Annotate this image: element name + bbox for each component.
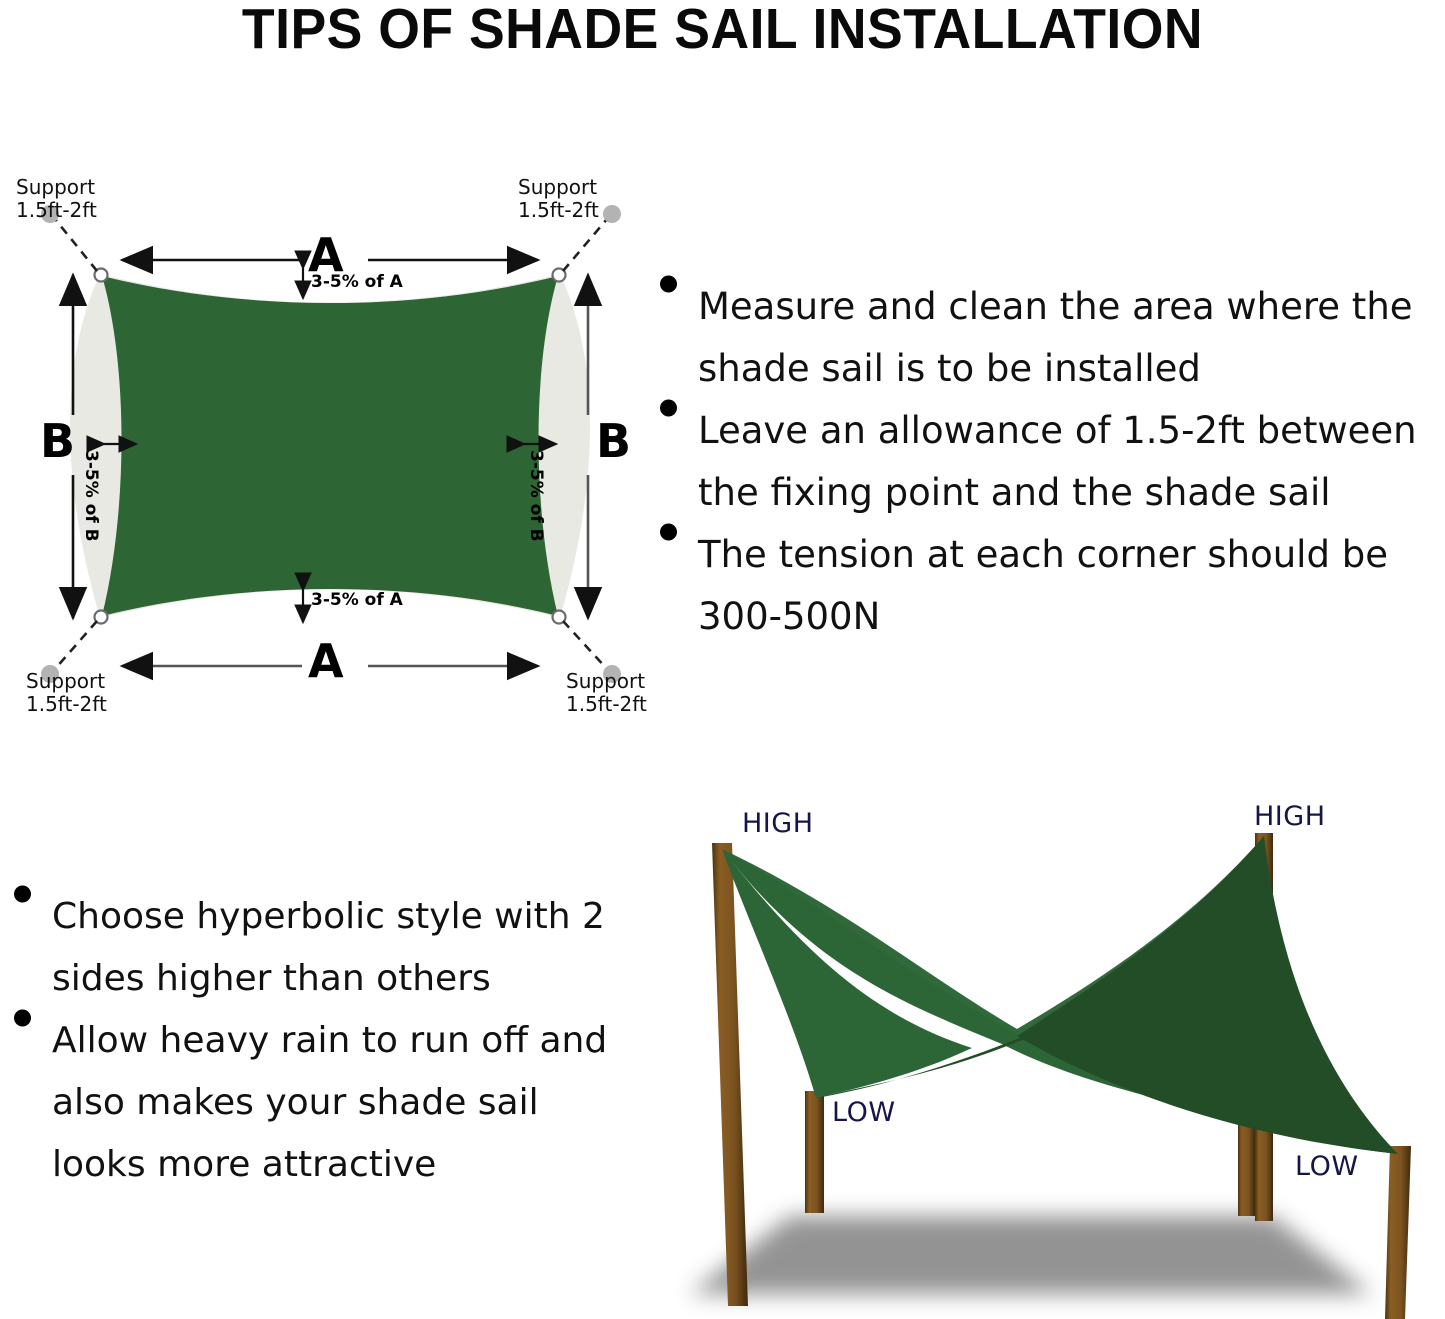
support-label-line2: 1.5ft-2ft [16, 198, 97, 222]
hyperbolic-sail-svg [672, 786, 1445, 1319]
list-item-text: Measure and clean the area where the sha… [698, 276, 1445, 400]
list-item-text: Leave an allowance of 1.5-2ft between th… [698, 400, 1445, 524]
dimension-label-left-B: B [40, 418, 75, 464]
list-item-text: The tension at each corner should be 300… [698, 524, 1445, 648]
bullet-dot-icon [14, 1010, 31, 1027]
support-label-bottom-right: Support 1.5ft-2ft [566, 670, 647, 716]
support-dot-top-right [603, 205, 621, 223]
post-low-right [1385, 1146, 1411, 1319]
curve-label-left: 3-5% of B [81, 450, 101, 542]
support-line-top-right [563, 219, 607, 271]
support-label-line2: 1.5ft-2ft [518, 198, 599, 222]
list-item: Leave an allowance of 1.5-2ft between th… [646, 400, 1445, 524]
post-high-left [712, 843, 748, 1306]
list-item: Allow heavy rain to run off and also mak… [0, 1010, 630, 1196]
list-item: Measure and clean the area where the sha… [646, 276, 1445, 400]
support-label-line2: 1.5ft-2ft [566, 692, 647, 716]
label-high-right: HIGH [1254, 801, 1326, 832]
bullet-dot-icon [660, 276, 677, 293]
rectangular-sail-diagram: A A B B 3-5% of A 3-5% of A 3-5% of B 3-… [0, 150, 660, 740]
support-label-line1: Support [26, 669, 105, 693]
label-low-left: LOW [832, 1097, 896, 1128]
list-item: Choose hyperbolic style with 2 sides hig… [0, 886, 630, 1010]
support-line-bottom-right [563, 621, 607, 669]
label-high-left: HIGH [742, 808, 814, 839]
support-label-line1: Support [566, 669, 645, 693]
installation-tips-bottom-left: Choose hyperbolic style with 2 sides hig… [0, 886, 630, 1196]
dimension-label-right-B: B [596, 418, 631, 464]
hyperbolic-sail-diagram: HIGH HIGH LOW LOW [672, 786, 1445, 1319]
curve-label-top: 3-5% of A [311, 272, 403, 292]
support-label-bottom-left: Support 1.5ft-2ft [26, 670, 107, 716]
list-item-text: Choose hyperbolic style with 2 sides hig… [52, 886, 630, 1010]
page-title: TIPS OF SHADE SAIL INSTALLATION [43, 0, 1401, 62]
ground-shadow [690, 1216, 1372, 1294]
dimension-label-bottom-A: A [308, 638, 344, 684]
curve-label-right: 3-5% of B [526, 450, 546, 542]
support-line-bottom-left [55, 621, 97, 669]
support-label-top-right: Support 1.5ft-2ft [518, 176, 599, 222]
support-line-top-left [55, 219, 97, 271]
support-label-line1: Support [16, 175, 95, 199]
curve-label-bottom: 3-5% of A [311, 590, 403, 610]
post-low-left [805, 1091, 824, 1213]
list-item-text: Allow heavy rain to run off and also mak… [52, 1010, 630, 1196]
support-label-top-left: Support 1.5ft-2ft [16, 176, 97, 222]
sail-body-green [102, 276, 558, 616]
list-item: The tension at each corner should be 300… [646, 524, 1445, 648]
bullet-dot-icon [660, 524, 677, 541]
support-label-line1: Support [518, 175, 597, 199]
bullet-dot-icon [14, 886, 31, 903]
label-low-right: LOW [1295, 1151, 1359, 1182]
bullet-dot-icon [660, 400, 677, 417]
support-label-line2: 1.5ft-2ft [26, 692, 107, 716]
installation-tips-top-right: Measure and clean the area where the sha… [646, 276, 1445, 648]
